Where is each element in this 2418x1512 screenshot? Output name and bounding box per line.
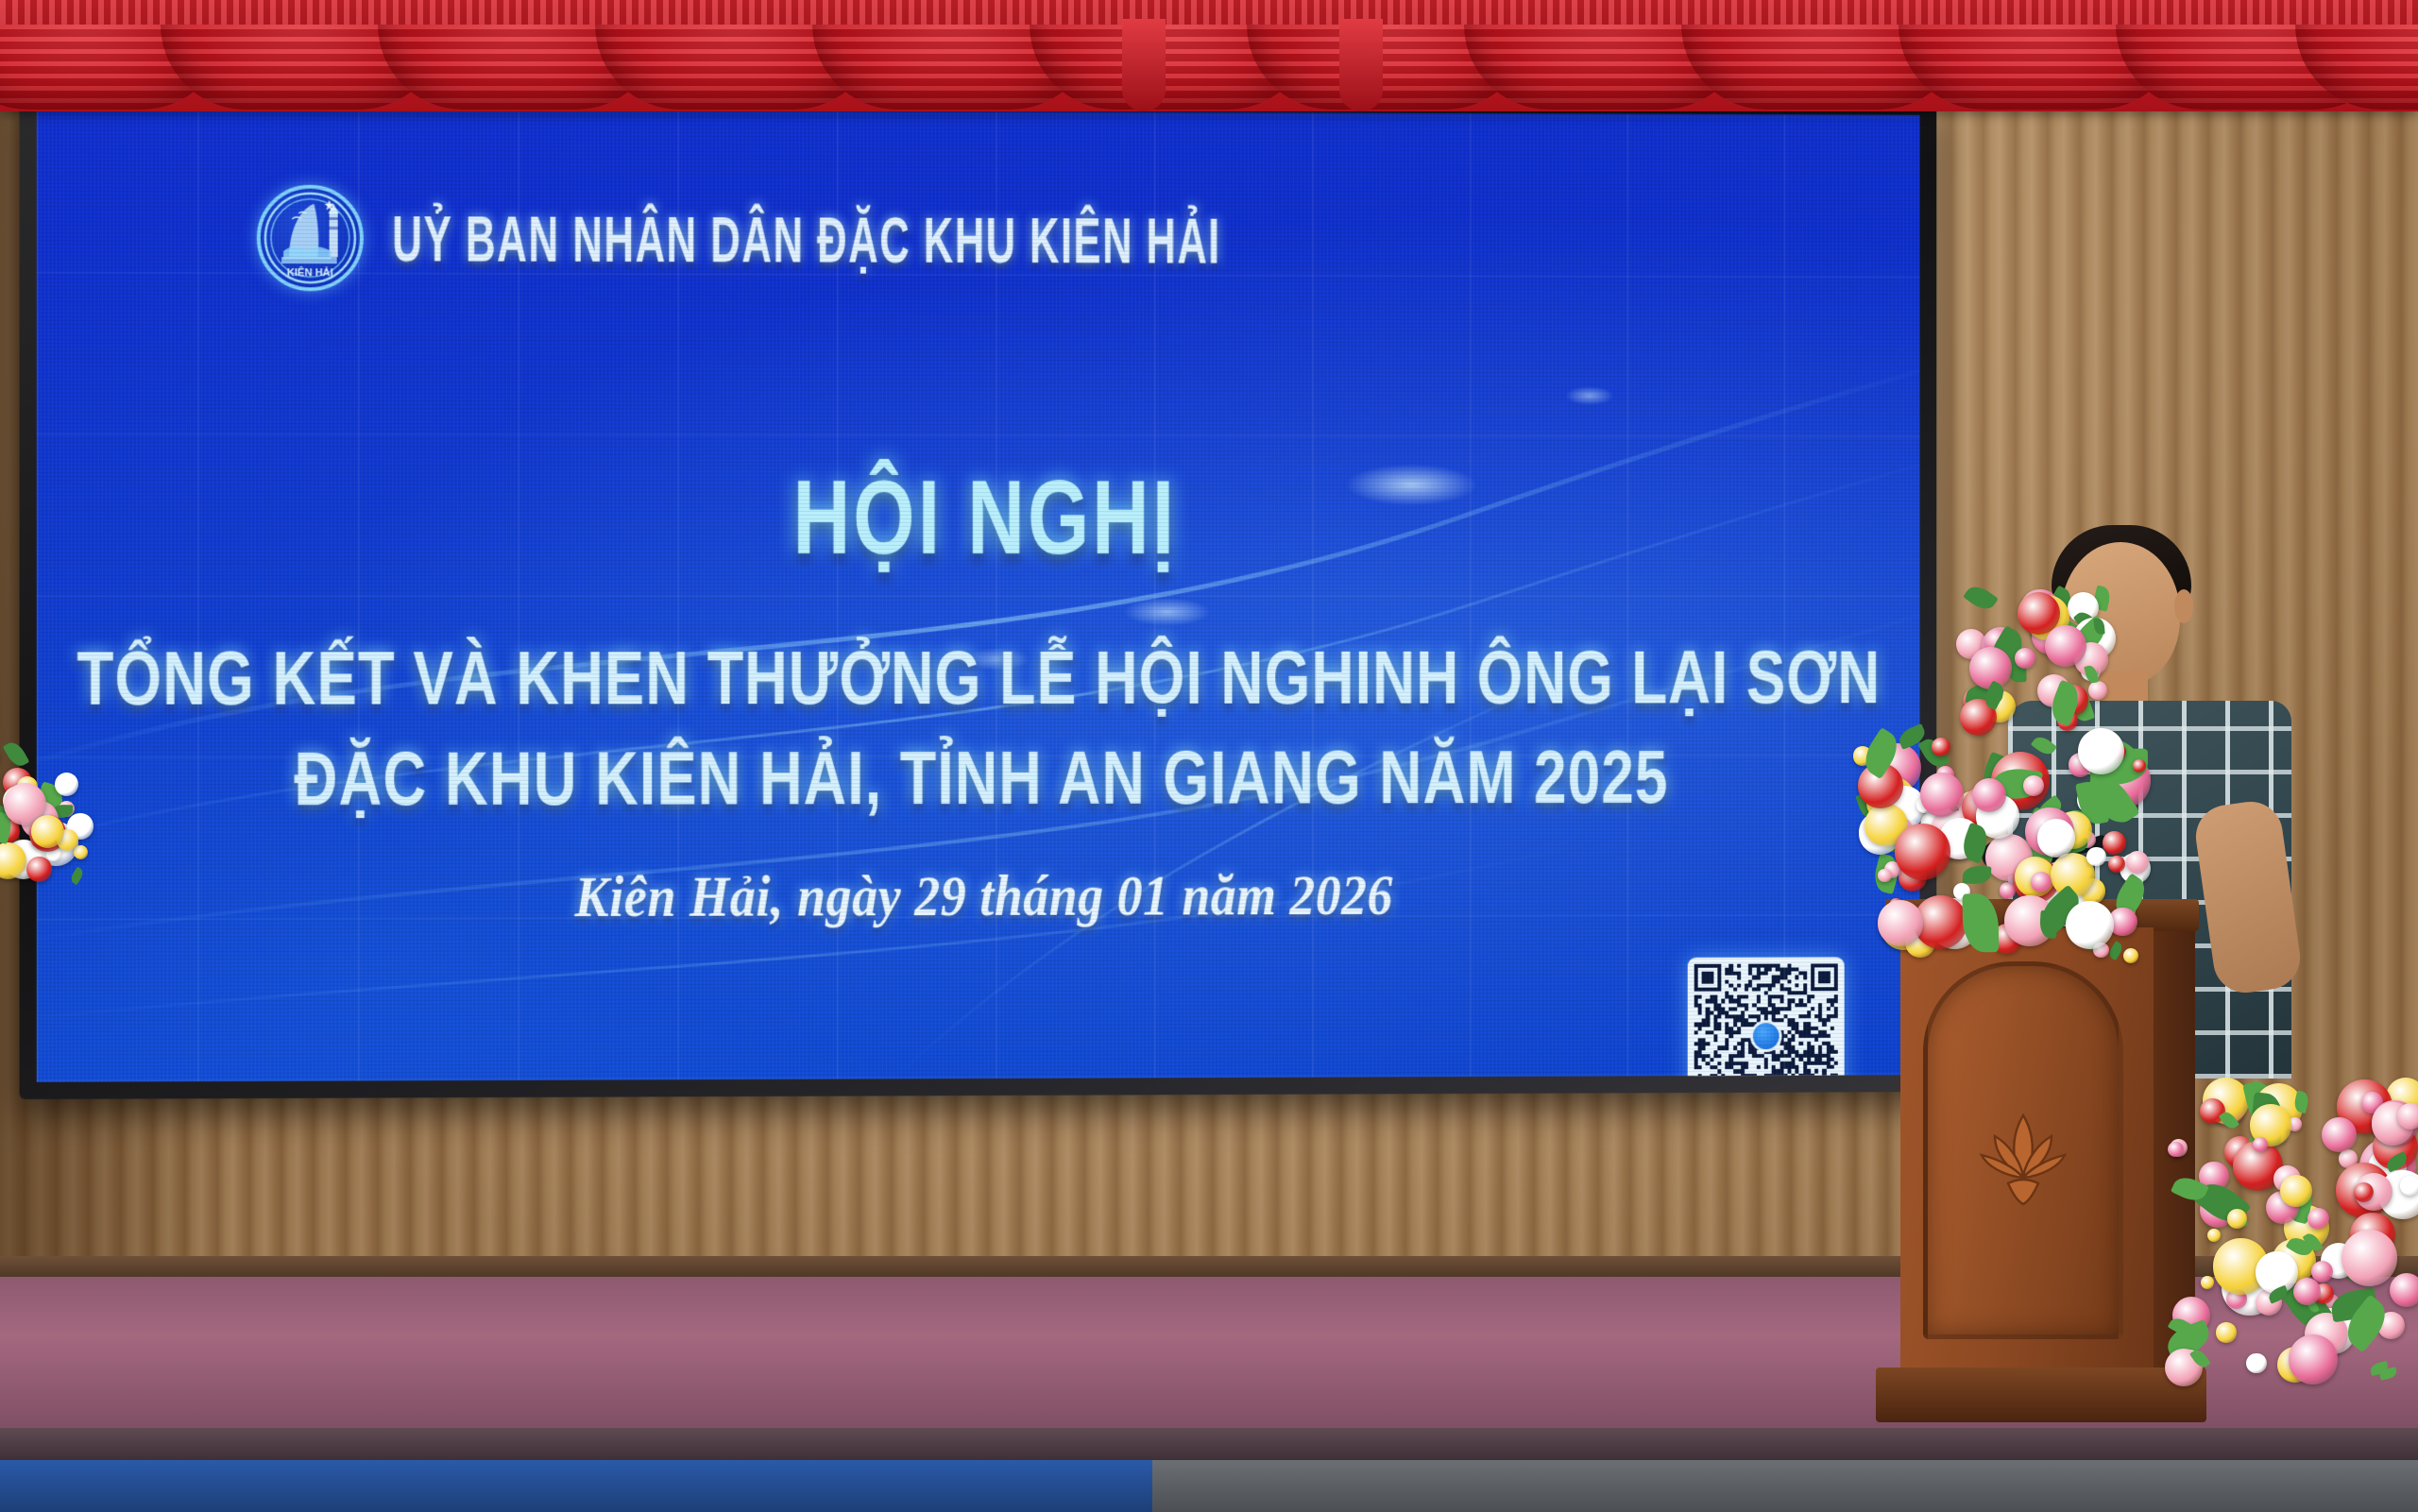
foliage-leaf	[1963, 581, 1999, 614]
flower-bloom	[2397, 1103, 2418, 1130]
kien-hai-seal-icon: KIÊN HẢI	[257, 185, 364, 292]
slide-heading: HỘI NGHỊ	[37, 456, 1920, 578]
svg-text:KIÊN HẢI: KIÊN HẢI	[287, 266, 333, 279]
foliage-leaf	[68, 867, 85, 886]
flower-bloom	[2086, 847, 2105, 866]
curtain-tail	[1339, 19, 1383, 111]
foliage-leaf	[2, 739, 29, 771]
speaker-podium	[1900, 899, 2184, 1428]
flower-bloom	[2246, 1353, 2267, 1374]
led-screen-frame: KIÊN HẢI UỶ BAN NHÂN DÂN ĐẶC KHU KIÊN HẢ…	[20, 91, 1937, 1099]
qr-code[interactable]	[1688, 957, 1845, 1081]
flower-arrangement	[0, 737, 94, 888]
flower-bloom	[2400, 1176, 2418, 1196]
flower-bloom	[1878, 869, 1891, 882]
flower-bloom	[26, 857, 52, 882]
organization-row: KIÊN HẢI UỶ BAN NHÂN DÂN ĐẶC KHU KIÊN HẢ…	[257, 185, 1283, 294]
flower-bloom	[2289, 1334, 2339, 1385]
flower-bloom	[2103, 831, 2126, 855]
flower-bloom	[2088, 681, 2107, 700]
presenter-ear	[2174, 589, 2193, 623]
flower-bloom	[1920, 773, 1964, 816]
flower-bloom	[2201, 1276, 2214, 1289]
photo-scene: KIÊN HẢI UỶ BAN NHÂN DÂN ĐẶC KHU KIÊN HẢ…	[0, 0, 2418, 1512]
flower-bloom	[2023, 775, 2044, 796]
flower-arrangement	[2163, 1077, 2418, 1388]
flower-bloom	[2031, 872, 2052, 892]
flower-bloom	[2207, 1229, 2221, 1242]
flower-bloom	[55, 773, 78, 796]
podium-base	[1876, 1368, 2206, 1422]
flower-bloom	[2253, 1137, 2268, 1152]
foliage-leaf	[2107, 941, 2125, 960]
slide-date: Kiên Hải, ngày 29 tháng 01 năm 2026	[37, 861, 1920, 931]
organization-title: UỶ BAN NHÂN DÂN ĐẶC KHU KIÊN HẢI	[392, 200, 1220, 278]
flower-bloom	[31, 815, 64, 848]
flower-bloom	[2015, 648, 2035, 669]
flower-bloom	[2280, 1175, 2312, 1207]
flower-bloom	[1972, 778, 2007, 813]
flower-bloom	[1895, 824, 1950, 879]
foliage-leaf	[1963, 865, 1992, 884]
lotus-carving-icon	[1961, 1108, 2086, 1215]
flower-arrangement	[1851, 727, 2154, 963]
flower-bloom	[2037, 819, 2076, 858]
floor-front-band	[0, 1428, 2418, 1460]
flower-bloom	[1878, 900, 1923, 945]
subtitle-line-2: ĐẶC KHU KIÊN HẢI, TỈNH AN GIANG NĂM 2025	[37, 728, 1920, 831]
led-screen: KIÊN HẢI UỶ BAN NHÂN DÂN ĐẶC KHU KIÊN HẢ…	[37, 108, 1920, 1082]
qr-center-logo	[1750, 1020, 1782, 1052]
flower-bloom	[2354, 1182, 2374, 1202]
podium-front-panel	[1923, 961, 2123, 1339]
flower-bloom	[2126, 851, 2149, 874]
curtain-tail	[1122, 19, 1166, 111]
flower-bloom	[2341, 1230, 2397, 1285]
flower-bloom	[2390, 1273, 2418, 1307]
flower-bloom	[2227, 1209, 2247, 1229]
flower-bloom	[2322, 1117, 2357, 1152]
flower-bloom	[2293, 1278, 2322, 1306]
floor-blue-strip	[0, 1460, 1152, 1512]
slide-content: KIÊN HẢI UỶ BAN NHÂN DÂN ĐẶC KHU KIÊN HẢ…	[37, 108, 1920, 1082]
flower-bloom	[2045, 625, 2086, 667]
foliage-leaf	[2031, 733, 2057, 757]
flower-bloom	[2216, 1322, 2236, 1342]
flower-arrangement	[1955, 586, 2116, 737]
flower-bloom	[74, 845, 88, 859]
flower-bloom	[2123, 948, 2138, 963]
podium-body	[1900, 927, 2154, 1371]
flower-bloom	[2066, 901, 2114, 949]
subtitle-line-1: TỔNG KẾT VÀ KHEN THƯỞNG LỄ HỘI NGHINH ÔN…	[37, 629, 1920, 731]
slide-subtitle: TỔNG KẾT VÀ KHEN THƯỞNG LỄ HỘI NGHINH ÔN…	[37, 629, 1920, 832]
flower-bloom	[1932, 738, 1950, 756]
